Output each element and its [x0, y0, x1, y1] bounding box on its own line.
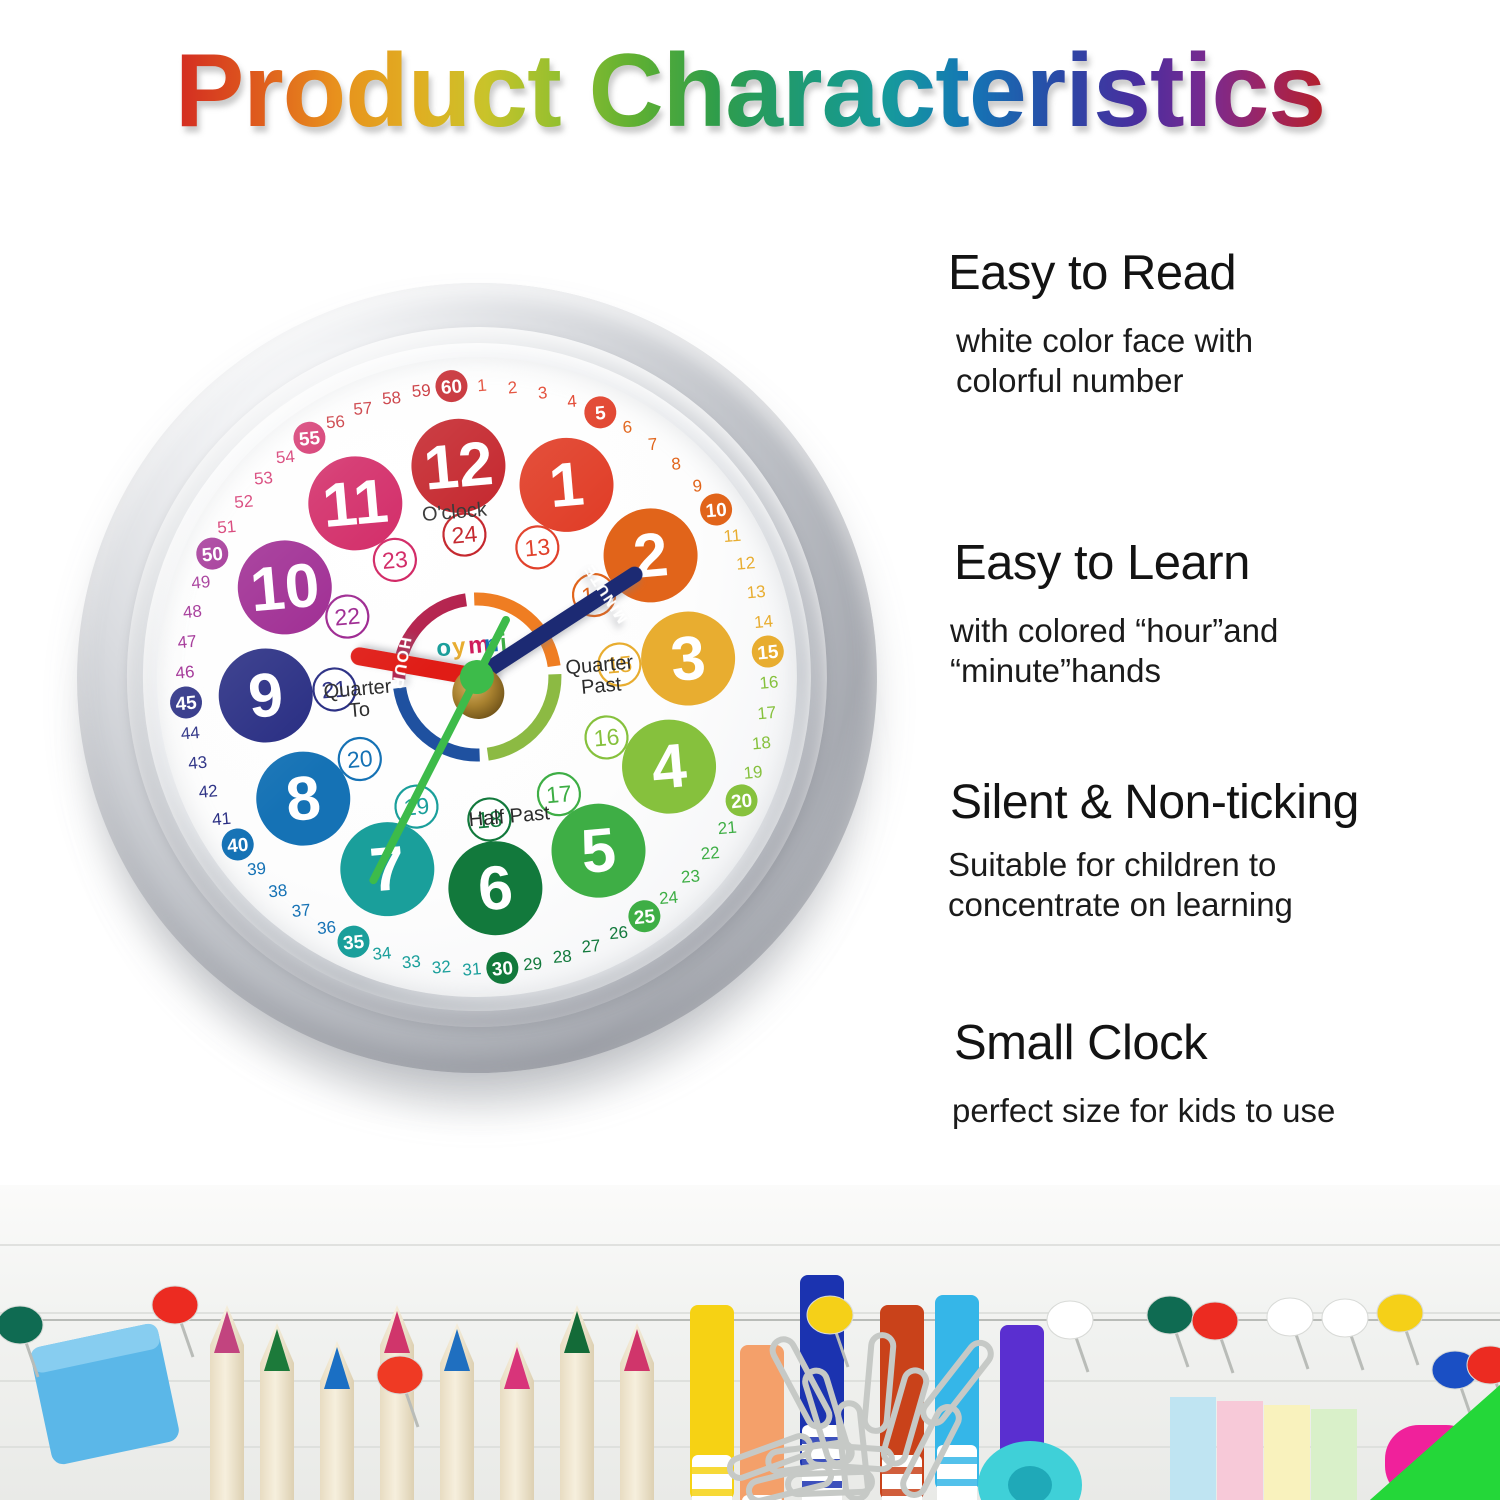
minute-tick-label: 51	[216, 517, 237, 538]
minute-tick-label: 13	[746, 582, 767, 603]
minute-tick-label: 36	[316, 918, 337, 939]
hour-number-label: 9	[246, 660, 286, 732]
sticky-note	[1170, 1397, 1216, 1500]
hour24-marker-16: 16	[584, 715, 630, 761]
svg-text:To: To	[348, 698, 371, 722]
minute-tick-label: 37	[291, 900, 312, 921]
minute-tick-label: 33	[401, 952, 422, 973]
minute-tick-label: 21	[717, 818, 738, 839]
pushpin-head	[1147, 1296, 1193, 1334]
minute-tick-label: 41	[211, 809, 232, 830]
feature-easy-to-learn: Easy to Learn with colored “hour”and “mi…	[948, 538, 1488, 690]
minute-tick-label: 56	[325, 412, 346, 433]
minute-highlight-marker: 45	[169, 685, 204, 720]
feature-heading: Small Clock	[954, 1018, 1488, 1069]
svg-text:y: y	[451, 633, 467, 661]
pushpin-head	[1047, 1301, 1093, 1339]
minute-tick-label: 28	[552, 946, 573, 967]
minute-tick-label: 52	[234, 491, 255, 512]
hour24-number-label: 16	[593, 723, 621, 751]
minute-tick-label: 9	[692, 476, 703, 496]
hour-number-label: 11	[320, 467, 391, 541]
hour-marker-3: 3	[637, 608, 739, 710]
pushpin-head	[1192, 1302, 1238, 1340]
hour24-marker-22: 22	[325, 594, 371, 640]
hour-marker-1: 1	[516, 434, 618, 536]
minute-tick-label: 29	[522, 954, 543, 975]
minute-tick-label: 58	[381, 388, 402, 409]
hour24-number-label: 20	[346, 745, 374, 773]
minute-tick-label: 8	[671, 454, 682, 474]
minute-tick-label: 3	[537, 383, 548, 403]
sticky-note	[1217, 1401, 1263, 1500]
minute-highlight-label: 55	[298, 428, 321, 451]
pushpin-head	[807, 1296, 853, 1334]
hour-number-label: 5	[578, 815, 618, 887]
desk-supplies-graphics	[0, 1185, 1500, 1500]
minute-highlight-label: 30	[491, 958, 514, 981]
minute-highlight-marker: 30	[485, 951, 520, 986]
svg-text:Past: Past	[580, 673, 622, 698]
hour24-number-label: 22	[333, 603, 361, 631]
hour-marker-10: 10	[234, 536, 336, 638]
minute-highlight-marker: 25	[627, 899, 662, 934]
hour-number-label: 12	[421, 429, 496, 504]
minute-highlight-marker: 35	[336, 924, 371, 959]
minute-highlight-label: 10	[705, 500, 728, 523]
feature-easy-to-read: Easy to Read white color face with color…	[948, 248, 1488, 400]
sticky-note	[1311, 1409, 1357, 1500]
pushpin-head	[377, 1356, 423, 1394]
hour-number-label: 3	[668, 623, 708, 695]
feature-description: with colored “hour”and “minute”hands	[950, 611, 1488, 690]
minute-tick-label: 18	[751, 733, 772, 754]
hour24-number-label: 24	[451, 520, 479, 548]
feature-description: Suitable for children to concentrate on …	[948, 845, 1488, 924]
minute-highlight-marker: 5	[583, 395, 618, 430]
minute-highlight-label: 50	[201, 544, 224, 567]
minute-highlight-label: 60	[440, 376, 463, 399]
minute-highlight-label: 45	[175, 693, 198, 716]
minute-tick-label: 27	[581, 936, 602, 957]
hour-marker-6: 6	[444, 837, 546, 939]
minute-tick-label: 54	[275, 447, 296, 468]
pushpin-head	[0, 1306, 43, 1344]
minute-highlight-marker: 55	[292, 420, 327, 455]
minute-highlight-marker: 15	[750, 634, 785, 669]
minute-highlight-label: 25	[633, 906, 656, 929]
hour-number-label: 10	[247, 551, 322, 626]
hour24-marker-13: 13	[515, 525, 561, 571]
minute-tick-label: 48	[182, 602, 203, 623]
minute-highlight-label: 40	[226, 835, 249, 858]
minute-highlight-marker: 40	[220, 827, 255, 862]
minute-tick-label: 57	[353, 398, 374, 419]
feature-description: perfect size for kids to use	[952, 1091, 1488, 1130]
hour24-number-label: 23	[381, 546, 409, 574]
feature-heading: Easy to Learn	[954, 538, 1488, 589]
minute-tick-label: 2	[507, 378, 518, 398]
minute-highlight-marker: 60	[434, 369, 469, 404]
minute-tick-label: 4	[566, 392, 577, 412]
hour-marker-9: 9	[215, 645, 317, 747]
minute-tick-label: 53	[253, 468, 274, 489]
pushpin-head	[1267, 1298, 1313, 1336]
sticky-note	[1264, 1405, 1310, 1500]
minute-tick-label: 22	[700, 843, 721, 864]
page-title: Product Characteristics	[175, 39, 1325, 143]
marker-stripe	[692, 1467, 732, 1474]
minute-highlight-label: 15	[756, 642, 779, 665]
hour-marker-4: 4	[618, 716, 720, 818]
minute-tick-label: 6	[622, 417, 633, 437]
minute-tick-label: 24	[658, 888, 679, 909]
minute-tick-label: 12	[735, 553, 756, 574]
clock-face-graphics: 1234678911121314161718192122232426272829…	[130, 330, 823, 1023]
feature-small-clock: Small Clock perfect size for kids to use	[948, 1018, 1488, 1131]
minute-highlight-marker: 50	[195, 536, 230, 571]
minute-highlight-marker: 20	[724, 783, 759, 818]
hour24-number-label: 13	[523, 533, 551, 561]
feature-silent-non-ticking: Silent & Non-ticking Suitable for childr…	[948, 778, 1488, 924]
label-quarter-to: QuarterTo	[323, 676, 395, 725]
minute-tick-label: 31	[462, 959, 483, 980]
minute-highlight-label: 20	[730, 791, 753, 814]
minute-tick-label: 26	[608, 923, 629, 944]
product-clock-image: 1234678911121314161718192122232426272829…	[55, 265, 895, 1115]
feature-heading: Easy to Read	[948, 248, 1488, 299]
minute-tick-label: 19	[743, 762, 764, 783]
marker-stripe	[937, 1479, 977, 1486]
minute-tick-label: 46	[175, 662, 196, 683]
pushpin-head	[152, 1286, 198, 1324]
minute-tick-label: 14	[753, 611, 774, 632]
hour-marker-7: 7	[336, 818, 438, 920]
title-bar: Product Characteristics	[0, 28, 1500, 153]
minute-tick-label: 42	[198, 781, 219, 802]
minute-tick-label: 23	[680, 866, 701, 887]
feature-list: Easy to Read white color face with color…	[948, 248, 1488, 1178]
minute-tick-label: 39	[246, 859, 267, 880]
svg-text:o: o	[435, 634, 452, 662]
feature-heading: Silent & Non-ticking	[950, 778, 1488, 828]
pushpin-head	[1377, 1294, 1423, 1332]
minute-tick-label: 1	[477, 376, 488, 396]
minute-tick-label: 7	[647, 434, 658, 454]
hour-number-label: 1	[546, 449, 586, 521]
minute-tick-label: 47	[177, 632, 198, 653]
marker-stripe	[692, 1489, 732, 1496]
minute-tick-label: 43	[187, 753, 208, 774]
clock-face: 1234678911121314161718192122232426272829…	[130, 330, 823, 1023]
minute-tick-label: 59	[411, 381, 432, 402]
hour-number-label: 8	[283, 763, 323, 835]
minute-tick-label: 11	[723, 526, 742, 546]
minute-tick-label: 44	[180, 723, 201, 744]
minute-highlight-label: 5	[594, 403, 607, 425]
minute-tick-label: 38	[268, 881, 289, 902]
hour-number-label: 4	[649, 731, 690, 803]
pushpin-head	[1322, 1299, 1368, 1337]
hour-number-label: 6	[475, 853, 515, 925]
feature-description: white color face with colorful number	[956, 321, 1488, 400]
desk-supplies-photo-strip	[0, 1185, 1500, 1500]
hour24-number-label: 17	[545, 780, 573, 808]
minute-tick-label: 49	[191, 572, 212, 593]
minute-highlight-label: 35	[342, 932, 365, 955]
minute-highlight-marker: 10	[699, 492, 734, 527]
minute-tick-label: 17	[757, 703, 778, 724]
minute-tick-label: 16	[759, 672, 780, 693]
minute-tick-label: 34	[372, 943, 393, 964]
minute-tick-label: 32	[431, 957, 452, 978]
